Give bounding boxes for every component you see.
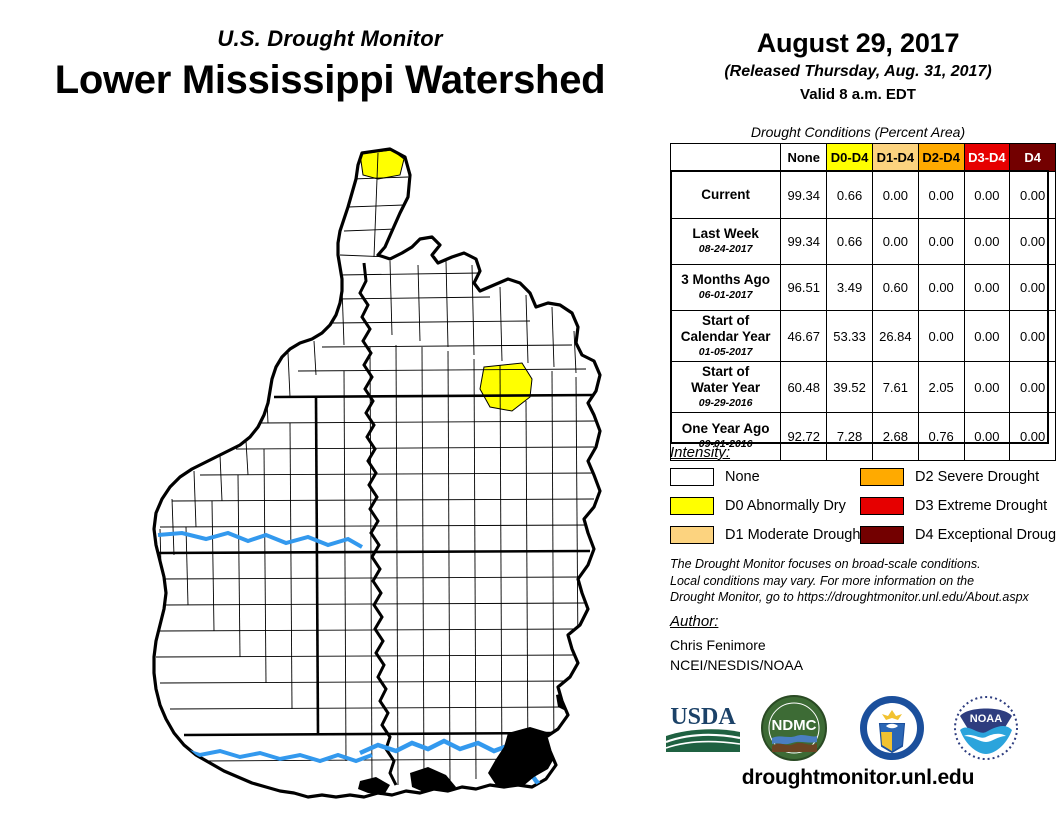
- noaa-logo[interactable]: NOAA: [950, 692, 1022, 769]
- ndmc-wordmark: NDMC: [772, 717, 817, 734]
- disclaimer-line-1: The Drought Monitor focuses on broad-sca…: [670, 556, 1055, 573]
- report-released: (Released Thursday, Aug. 31, 2017): [660, 63, 1056, 81]
- page-title: U.S. Drought Monitor Lower Mississippi W…: [0, 26, 660, 103]
- usda-wordmark: USDA: [670, 704, 736, 730]
- row-label-last-week: Last Week 08-24-2017: [671, 219, 781, 265]
- legend-item-d2: D2 Severe Drought: [860, 468, 1039, 486]
- drought-conditions-table: None D0-D4 D1-D4 D2-D4 D3-D4 D4 Current …: [670, 143, 1056, 461]
- disclaimer-line-3: Drought Monitor, go to https://droughtmo…: [670, 589, 1055, 606]
- usda-logo[interactable]: USDA: [664, 700, 742, 759]
- col-header-d2: D2-D4: [918, 144, 964, 172]
- author-block: Chris Fenimore NCEI/NESDIS/NOAA: [670, 636, 803, 676]
- table-row: Start ofCalendar Year 01-05-2017 46.67 5…: [671, 311, 1056, 362]
- disclaimer: The Drought Monitor focuses on broad-sca…: [670, 556, 1055, 606]
- cell-d3: 0.00: [964, 362, 1010, 413]
- col-header-none: None: [781, 144, 827, 172]
- cell-d1: 7.61: [872, 362, 918, 413]
- legend-item-d4: D4 Exceptional Drought: [860, 526, 1056, 544]
- commerce-seal[interactable]: [856, 692, 928, 769]
- author-name: Chris Fenimore: [670, 636, 803, 656]
- row-label-start-of-water-year: Start ofWater Year 09-29-2016: [671, 362, 781, 413]
- region-title: Lower Mississippi Watershed: [0, 58, 660, 103]
- cell-d4: 0.00: [1010, 362, 1056, 413]
- intensity-legend: Intensity: None D0 Abnormally Dry D1 Mod…: [670, 444, 1050, 553]
- cell-d4: 0.00: [1010, 219, 1056, 265]
- col-header-d0: D0-D4: [827, 144, 873, 172]
- cell-d3: 0.00: [964, 172, 1010, 219]
- table-row: Last Week 08-24-2017 99.34 0.66 0.00 0.0…: [671, 219, 1056, 265]
- cell-none: 99.34: [781, 219, 827, 265]
- legend-item-d1: D1 Moderate Drought: [670, 526, 864, 544]
- cell-d0: 0.66: [827, 172, 873, 219]
- table-row: Current 99.34 0.66 0.00 0.00 0.00 0.00: [671, 172, 1056, 219]
- cell-d0: 3.49: [827, 265, 873, 311]
- col-header-d4: D4: [1010, 144, 1056, 172]
- noaa-wordmark: NOAA: [970, 713, 1002, 725]
- report-date: August 29, 2017: [660, 28, 1056, 59]
- cell-none: 60.48: [781, 362, 827, 413]
- cell-d1: 0.00: [872, 172, 918, 219]
- cell-none: 99.34: [781, 172, 827, 219]
- ndmc-logo[interactable]: NDMC: [758, 692, 830, 769]
- drought-map[interactable]: [60, 135, 660, 805]
- author-affiliation: NCEI/NESDIS/NOAA: [670, 656, 803, 676]
- row-label-3-months-ago: 3 Months Ago 06-01-2017: [671, 265, 781, 311]
- legend-title: Intensity:: [670, 444, 1050, 461]
- cell-d0: 39.52: [827, 362, 873, 413]
- cell-d3: 0.00: [964, 311, 1010, 362]
- legend-swatch-d3: [860, 497, 904, 515]
- cell-d4: 0.00: [1010, 311, 1056, 362]
- legend-swatch-d1: [670, 526, 714, 544]
- legend-swatch-d2: [860, 468, 904, 486]
- cell-d2: 0.00: [918, 311, 964, 362]
- legend-swatch-d4: [860, 526, 904, 544]
- cell-d2: 2.05: [918, 362, 964, 413]
- table-row: 3 Months Ago 06-01-2017 96.51 3.49 0.60 …: [671, 265, 1056, 311]
- cell-d2: 0.00: [918, 172, 964, 219]
- report-header: August 29, 2017 (Released Thursday, Aug.…: [660, 28, 1056, 103]
- table-corner-cell: [671, 144, 781, 172]
- cell-d2: 0.00: [918, 265, 964, 311]
- cell-d1: 26.84: [872, 311, 918, 362]
- author-heading: Author:: [670, 613, 718, 630]
- cell-d0: 0.66: [827, 219, 873, 265]
- cell-d1: 0.00: [872, 219, 918, 265]
- site-url[interactable]: droughtmonitor.unl.edu: [660, 766, 1056, 790]
- cell-none: 96.51: [781, 265, 827, 311]
- program-title: U.S. Drought Monitor: [0, 26, 660, 52]
- legend-item-none: None: [670, 468, 760, 486]
- legend-item-d0: D0 Abnormally Dry: [670, 497, 846, 515]
- cell-d3: 0.00: [964, 219, 1010, 265]
- report-valid-time: Valid 8 a.m. EDT: [660, 86, 1056, 103]
- cell-d0: 53.33: [827, 311, 873, 362]
- legend-item-d3: D3 Extreme Drought: [860, 497, 1047, 515]
- legend-swatch-none: [670, 468, 714, 486]
- legend-swatch-d0: [670, 497, 714, 515]
- row-label-current: Current: [671, 172, 781, 219]
- table-header-row: None D0-D4 D1-D4 D2-D4 D3-D4 D4: [671, 144, 1056, 172]
- logo-strip: USDA NDMC: [660, 688, 1056, 766]
- cell-d3: 0.00: [964, 265, 1010, 311]
- cell-d4: 0.00: [1010, 265, 1056, 311]
- cell-d1: 0.60: [872, 265, 918, 311]
- table-row: Start ofWater Year 09-29-2016 60.48 39.5…: [671, 362, 1056, 413]
- cell-none: 46.67: [781, 311, 827, 362]
- col-header-d3: D3-D4: [964, 144, 1010, 172]
- disclaimer-line-2: Local conditions may vary. For more info…: [670, 573, 1055, 590]
- col-header-d1: D1-D4: [872, 144, 918, 172]
- cell-d4: 0.00: [1010, 172, 1056, 219]
- table-caption: Drought Conditions (Percent Area): [660, 124, 1056, 140]
- row-label-start-of-calendar-year: Start ofCalendar Year 01-05-2017: [671, 311, 781, 362]
- cell-d2: 0.00: [918, 219, 964, 265]
